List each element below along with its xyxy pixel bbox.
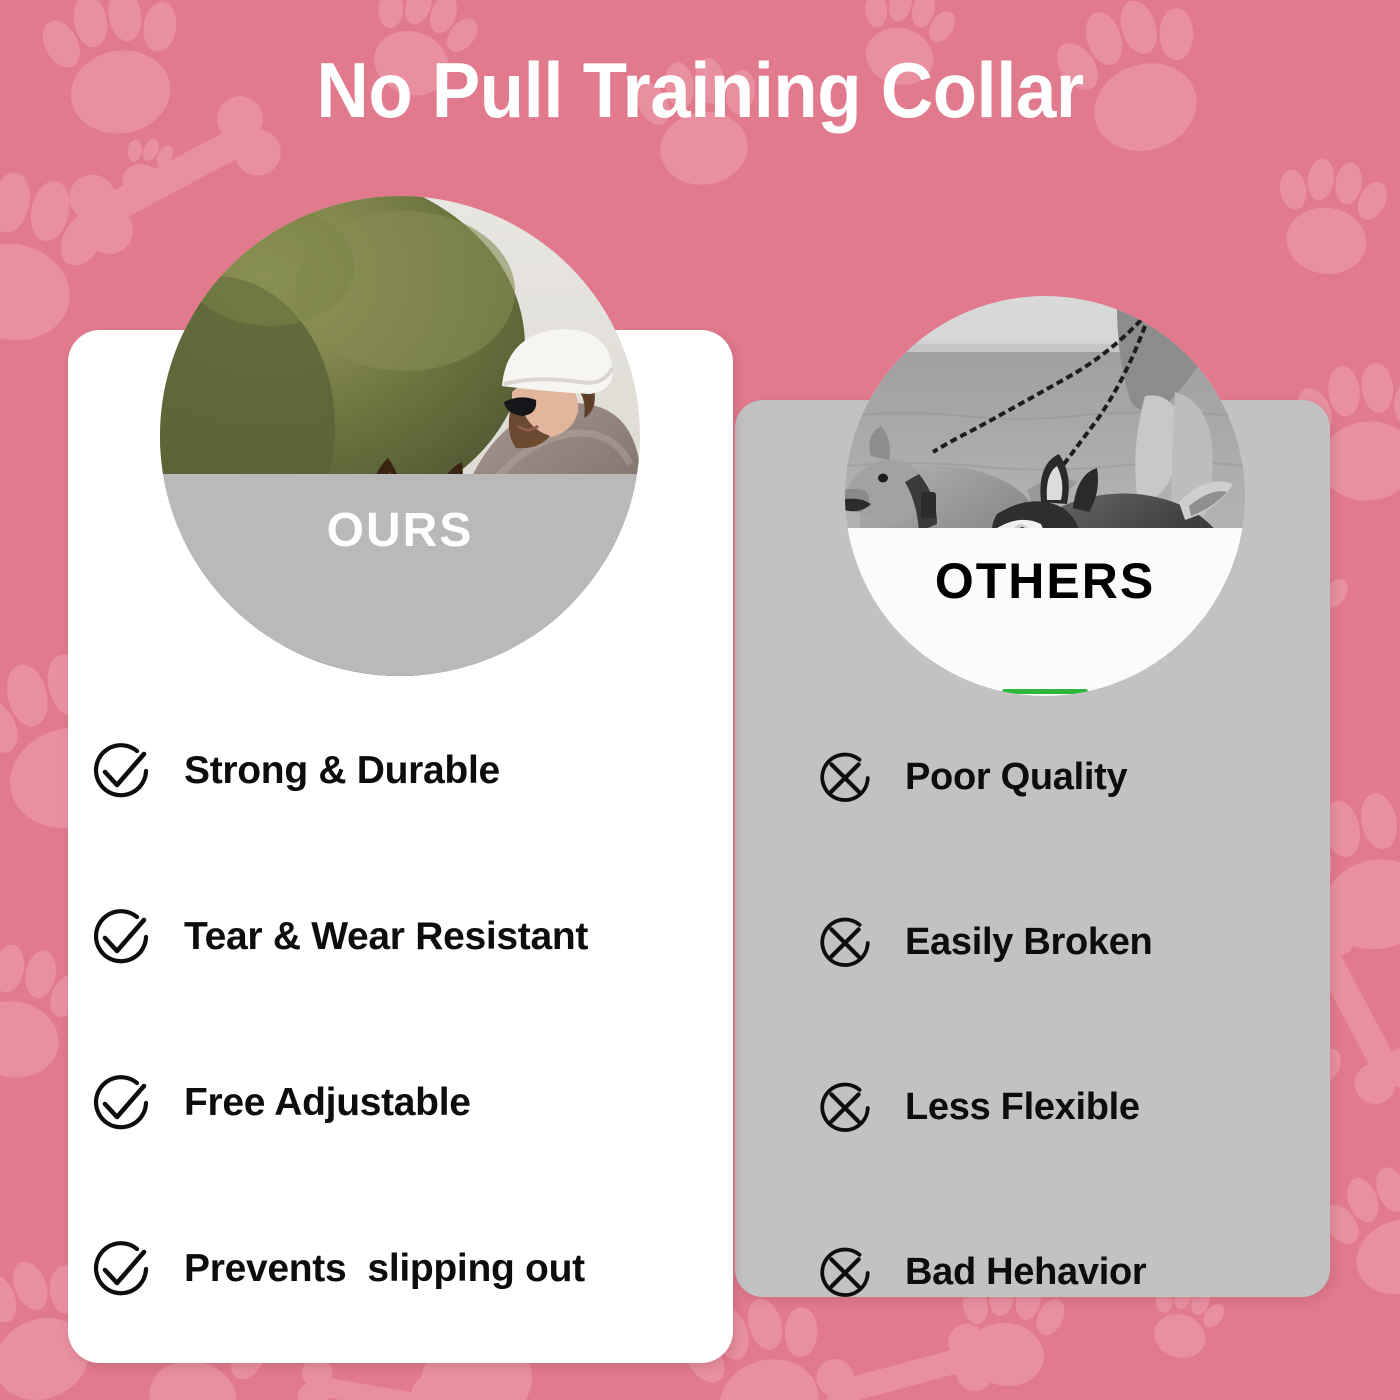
check-circle-icon: [88, 738, 154, 804]
list-item: Easily Broken: [815, 860, 1255, 1025]
x-circle-icon: [815, 748, 875, 808]
others-photo: OTHERS: [845, 296, 1245, 696]
check-circle-icon: [88, 1236, 154, 1302]
list-item-label: Strong & Durable: [184, 749, 500, 793]
list-item: Prevents slipping out: [88, 1186, 708, 1352]
x-circle-icon: [815, 1243, 875, 1303]
others-feature-list: Poor Quality Easily Broken Less Flexible…: [815, 695, 1255, 1355]
list-item-label: Prevents slipping out: [184, 1247, 585, 1291]
list-item: Bad Hehavior: [815, 1190, 1255, 1355]
x-circle-icon: [815, 913, 875, 973]
list-item-label: Less Flexible: [905, 1086, 1140, 1129]
check-circle-icon: [88, 904, 154, 970]
list-item: Less Flexible: [815, 1025, 1255, 1190]
check-circle-icon: [88, 1070, 154, 1136]
ours-label-band: OURS: [160, 474, 640, 676]
list-item: Strong & Durable: [88, 688, 708, 854]
list-item-label: Bad Hehavior: [905, 1251, 1146, 1294]
list-item-label: Tear & Wear Resistant: [184, 915, 588, 959]
others-label: OTHERS: [935, 552, 1155, 610]
ours-label: OURS: [327, 503, 474, 558]
list-item: Tear & Wear Resistant: [88, 854, 708, 1020]
green-accent-sliver: [1002, 689, 1088, 694]
list-item-label: Free Adjustable: [184, 1081, 471, 1125]
page-title: No Pull Training Collar: [49, 48, 1351, 134]
list-item-label: Easily Broken: [905, 921, 1152, 964]
others-label-band: OTHERS: [845, 528, 1245, 696]
ours-photo: OURS: [160, 196, 640, 676]
ours-feature-list: Strong & Durable Tear & Wear Resistant F…: [88, 688, 708, 1352]
x-circle-icon: [815, 1078, 875, 1138]
list-item: Poor Quality: [815, 695, 1255, 860]
list-item: Free Adjustable: [88, 1020, 708, 1186]
list-item-label: Poor Quality: [905, 756, 1127, 799]
